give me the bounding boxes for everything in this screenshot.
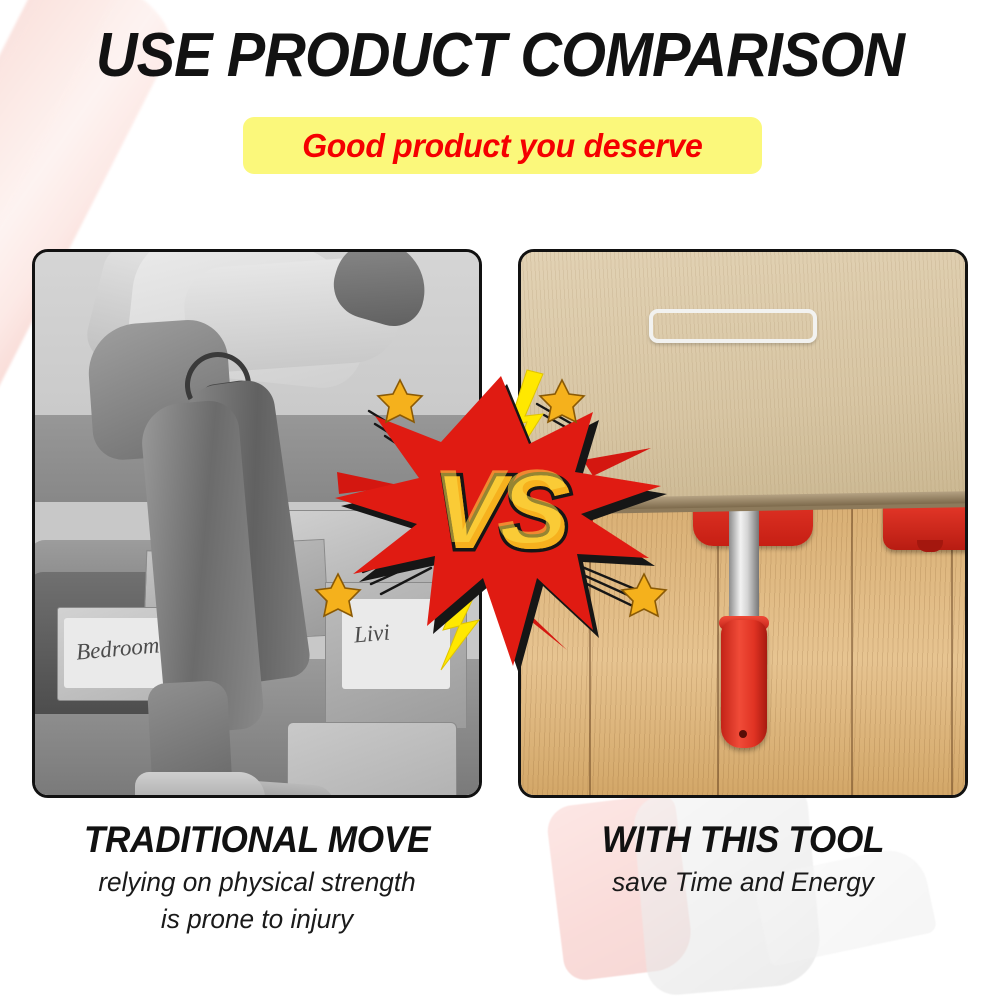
lifter-grip-hole: [739, 730, 747, 738]
person-foot-front: [135, 772, 265, 798]
subtitle-badge: Good product you deserve: [243, 117, 762, 174]
lifter-grip: [721, 620, 767, 748]
caption-with-tool: WITH THIS TOOL save Time and Energy: [518, 818, 968, 899]
caption-heading-with-tool: WITH THIS TOOL: [529, 818, 957, 862]
infographic-page: USE PRODUCT COMPARISON Good product you …: [0, 0, 1000, 1000]
caption-traditional: TRADITIONAL MOVE relying on physical str…: [32, 818, 482, 936]
caption-line1-with-tool: save Time and Energy: [525, 866, 962, 899]
caption-line2-traditional: is prone to injury: [39, 903, 476, 936]
caption-heading-traditional: TRADITIONAL MOVE: [43, 818, 471, 862]
caption-line1-traditional: relying on physical strength: [39, 866, 476, 899]
versus-burst: VS VS VS: [331, 368, 671, 672]
page-title: USE PRODUCT COMPARISON: [35, 22, 965, 90]
versus-label-highlight: VS: [432, 449, 566, 565]
subtitle-text: Good product you deserve: [302, 127, 702, 165]
roller-slider-notch: [917, 540, 943, 552]
board-handle: [649, 309, 817, 343]
